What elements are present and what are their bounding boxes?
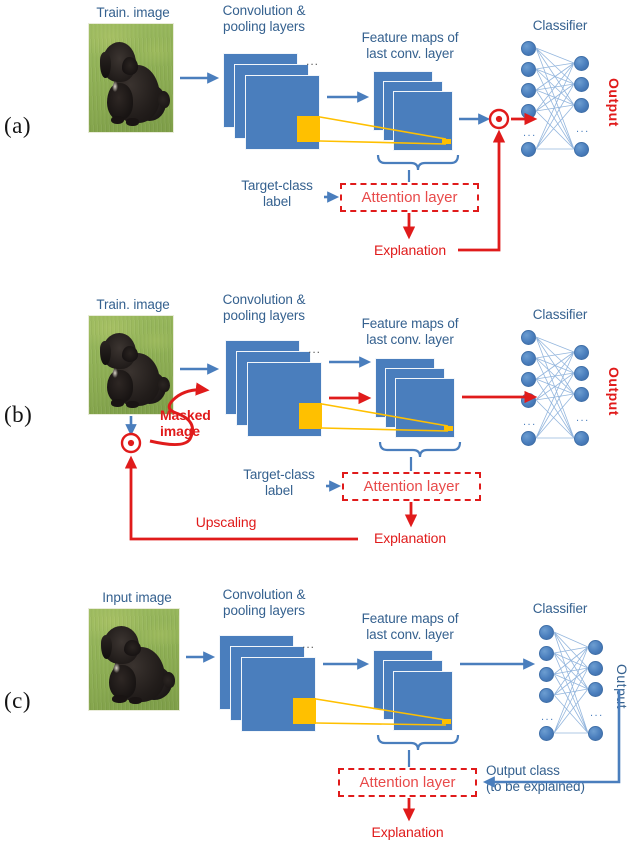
panel-c-connectors bbox=[0, 565, 640, 847]
panel-c: (c) Input image Convolution & pooling la… bbox=[0, 565, 640, 847]
fmap-brace bbox=[380, 442, 460, 457]
receptive-field-connector bbox=[320, 117, 446, 144]
multiply-dot bbox=[128, 440, 134, 446]
fmap-brace bbox=[378, 735, 458, 750]
multiply-dot bbox=[496, 116, 502, 122]
classifier-edges bbox=[554, 632, 588, 733]
fmap-brace bbox=[378, 155, 458, 170]
receptive-field-connector bbox=[322, 404, 448, 431]
panel-a: (a) Train. image Convolution & pooling l… bbox=[0, 0, 640, 282]
arrow-upscaling-to-multiply bbox=[131, 459, 358, 539]
arrow-masked-image-to-conv bbox=[150, 390, 206, 445]
arrow-output-class-to-attention bbox=[486, 689, 619, 782]
arrow-explanation-to-multiply bbox=[458, 133, 499, 250]
receptive-field-connector bbox=[316, 699, 446, 725]
panel-a-connectors bbox=[0, 0, 640, 282]
classifier-edges bbox=[536, 48, 574, 149]
classifier-edges bbox=[536, 337, 574, 438]
panel-b-connectors bbox=[0, 283, 640, 565]
figure-canvas: (a) Train. image Convolution & pooling l… bbox=[0, 0, 640, 847]
panel-b: (b) Train. image Convolution & pooling l… bbox=[0, 283, 640, 565]
